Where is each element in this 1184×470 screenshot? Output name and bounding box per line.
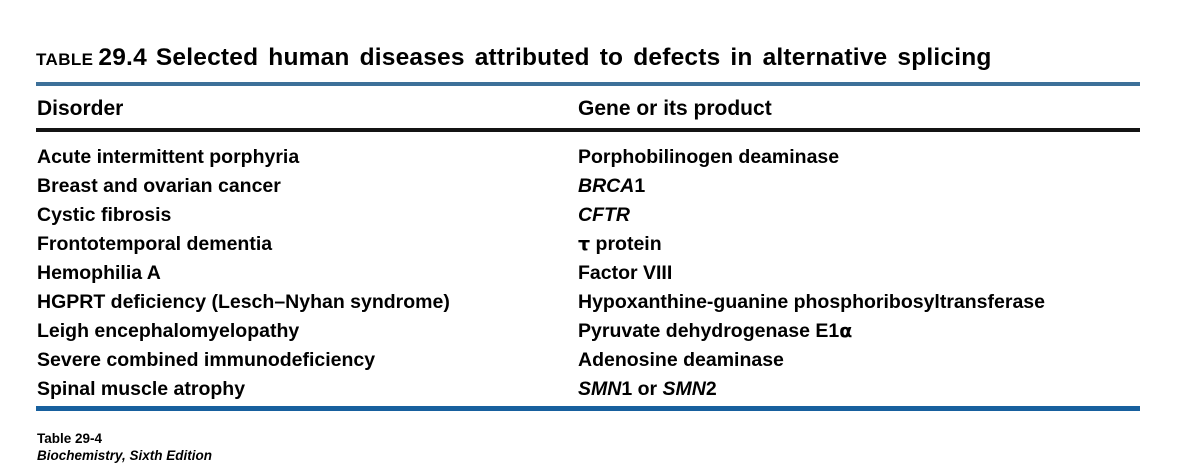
footer-table-number: Table 29-4 (37, 430, 212, 447)
cell-gene: Hypoxanthine-guanine phosphoribosyltrans… (578, 288, 1045, 317)
cell-gene: BRCA1 (578, 172, 645, 201)
table-row: Frontotemporal dementiaτ protein (0, 230, 1184, 259)
table-row: Hemophilia AFactor VIII (0, 259, 1184, 288)
table-row: Acute intermittent porphyriaPorphobilino… (0, 143, 1184, 172)
rule-bottom-blue (36, 406, 1140, 411)
table-figure: Table29.4Selected human diseases attribu… (0, 0, 1184, 470)
cell-disorder: Breast and ovarian cancer (37, 172, 281, 201)
cell-gene: CFTR (578, 201, 630, 230)
cell-gene: SMN1 or SMN2 (578, 375, 717, 404)
table-row: Breast and ovarian cancerBRCA1 (0, 172, 1184, 201)
cell-disorder: Frontotemporal dementia (37, 230, 272, 259)
cell-disorder: Acute intermittent porphyria (37, 143, 299, 172)
cell-disorder: Spinal muscle atrophy (37, 375, 245, 404)
footer-source-title: Biochemistry, Sixth Edition (37, 447, 212, 464)
table-row: Severe combined immunodeficiencyAdenosin… (0, 346, 1184, 375)
table-title-caption: Selected human diseases attributed to de… (156, 44, 992, 71)
table-body: Acute intermittent porphyriaPorphobilino… (0, 143, 1184, 404)
cell-gene: Factor VIII (578, 259, 672, 288)
table-title-number: 29.4 (98, 44, 146, 71)
cell-gene: τ protein (578, 230, 662, 259)
cell-gene: Adenosine deaminase (578, 346, 784, 375)
column-header-disorder: Disorder (37, 97, 123, 121)
rule-top-blue (36, 82, 1140, 86)
cell-gene: Pyruvate dehydrogenase E1α (578, 317, 852, 346)
figure-footer: Table 29-4 Biochemistry, Sixth Edition (37, 430, 212, 464)
cell-disorder: Leigh encephalomyelopathy (37, 317, 299, 346)
column-header-gene: Gene or its product (578, 97, 772, 121)
table-row: Spinal muscle atrophySMN1 or SMN2 (0, 375, 1184, 404)
cell-disorder: Severe combined immunodeficiency (37, 346, 375, 375)
cell-gene: Porphobilinogen deaminase (578, 143, 839, 172)
cell-disorder: Hemophilia A (37, 259, 161, 288)
table-row: Leigh encephalomyelopathyPyruvate dehydr… (0, 317, 1184, 346)
cell-disorder: HGPRT deficiency (Lesch–Nyhan syndrome) (37, 288, 450, 317)
table-row: Cystic fibrosisCFTR (0, 201, 1184, 230)
rule-header-black (36, 128, 1140, 132)
table-title: Table29.4Selected human diseases attribu… (36, 44, 992, 72)
cell-disorder: Cystic fibrosis (37, 201, 171, 230)
table-row: HGPRT deficiency (Lesch–Nyhan syndrome)H… (0, 288, 1184, 317)
table-title-label: Table (36, 44, 93, 71)
